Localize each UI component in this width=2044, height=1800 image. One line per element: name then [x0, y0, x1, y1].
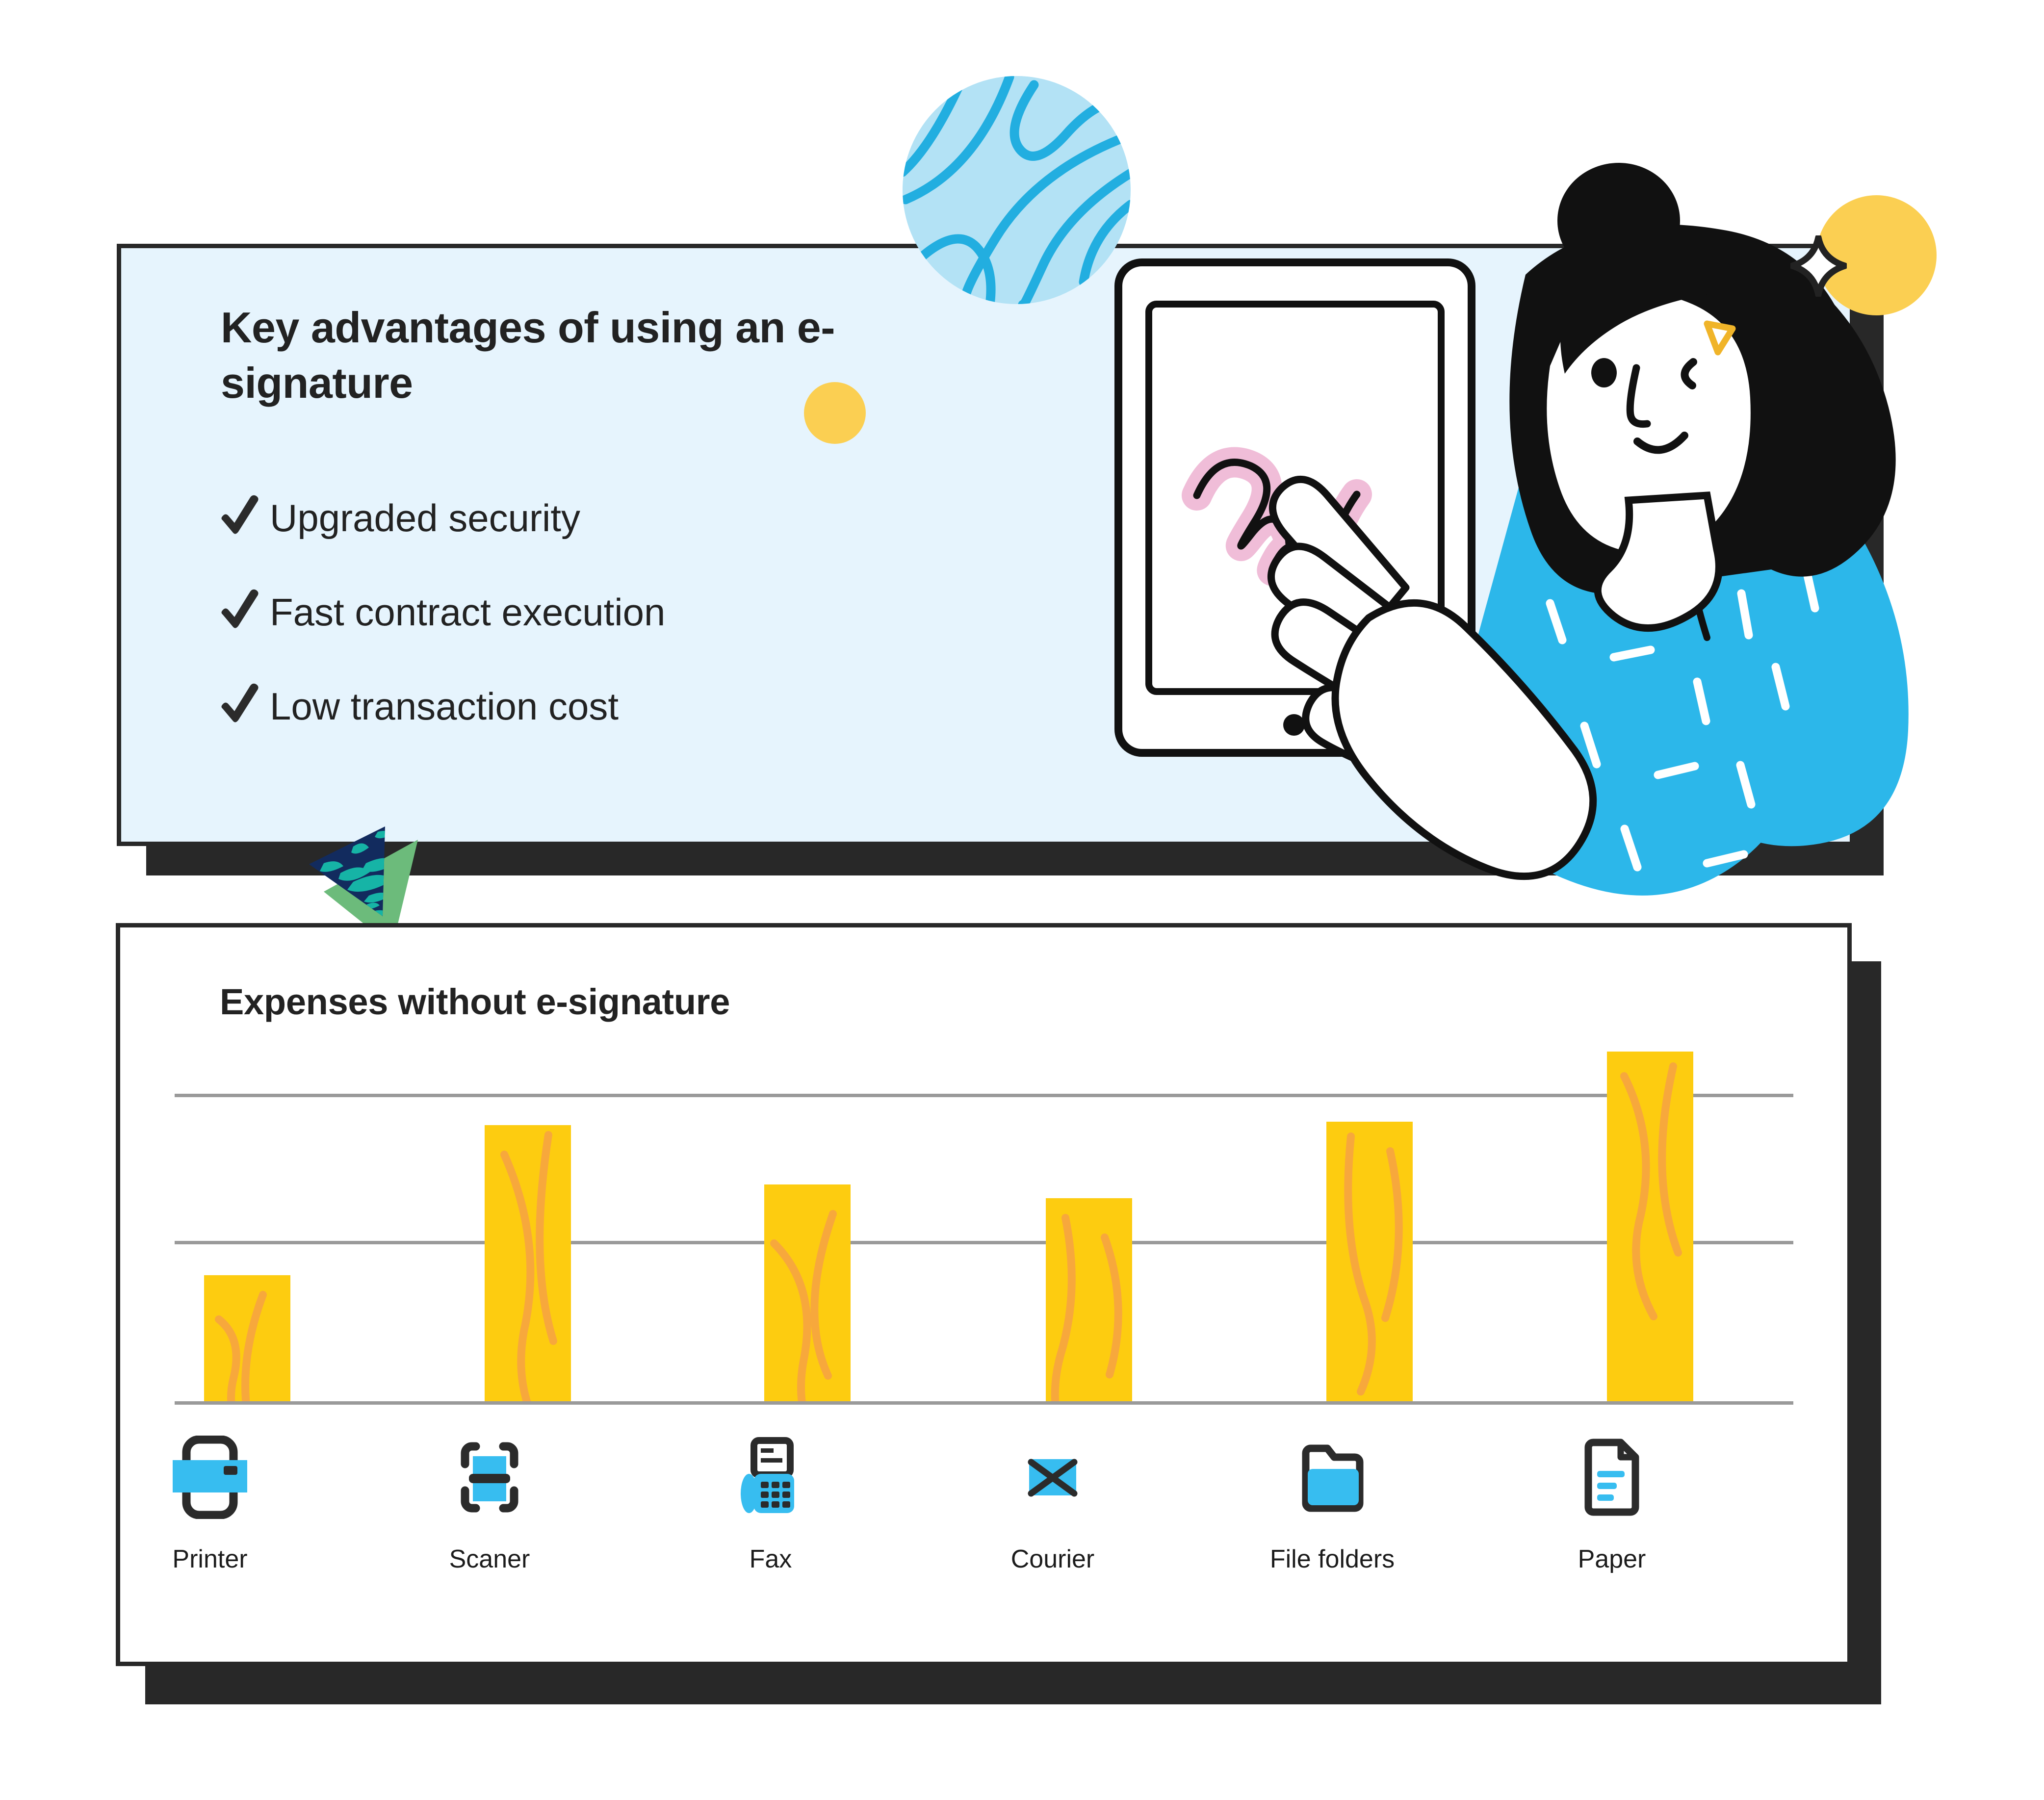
paper-document-icon [1538, 1431, 1685, 1524]
category-scaner: Scaner [416, 1431, 563, 1574]
striped-sphere-decoration [903, 76, 1131, 304]
category-label: Scaner [416, 1544, 563, 1574]
category-label: Printer [136, 1544, 284, 1574]
list-item: Upgraded security [217, 471, 953, 565]
category-printer: Printer [136, 1431, 284, 1574]
checkmark-icon [217, 682, 270, 731]
list-item: Low transaction cost [217, 659, 953, 753]
checkmark-icon [217, 588, 270, 637]
list-item-label: Upgraded security [270, 496, 580, 540]
bar-printer [204, 1275, 290, 1401]
bar-scaner [485, 1125, 571, 1401]
courier-envelope-icon [979, 1431, 1126, 1524]
list-item-label: Low transaction cost [270, 684, 619, 729]
category-file-folders: File folders [1259, 1431, 1406, 1574]
yellow-dot-decoration [804, 382, 866, 444]
list-item: Fast contract execution [217, 565, 953, 659]
printer-icon [136, 1431, 284, 1524]
fax-icon [697, 1431, 844, 1524]
list-item-label: Fast contract execution [270, 590, 665, 635]
category-fax: Fax [697, 1431, 844, 1574]
category-label: File folders [1259, 1544, 1406, 1574]
category-label: Paper [1538, 1544, 1685, 1574]
category-label: Fax [697, 1544, 844, 1574]
advantages-list: Upgraded security Fast contract executio… [217, 471, 953, 753]
top-card-heading: Key advantages of using an e-signature [221, 300, 858, 411]
bar-paper [1607, 1052, 1693, 1401]
bar-fax [764, 1184, 851, 1401]
category-paper: Paper [1538, 1431, 1685, 1574]
category-label: Courier [979, 1544, 1126, 1574]
category-courier: Courier [979, 1431, 1126, 1574]
checkmark-icon [217, 493, 270, 542]
bar-courier [1046, 1198, 1132, 1401]
sparkle-icon [1790, 235, 1847, 297]
scanner-icon [416, 1431, 563, 1524]
expenses-bar-chart: Printer Scaner [116, 923, 1852, 1666]
bar-file-folders [1326, 1122, 1413, 1401]
file-folder-icon [1259, 1431, 1406, 1524]
infographic-canvas: Key advantages of using an e-signature U… [0, 0, 2044, 1800]
